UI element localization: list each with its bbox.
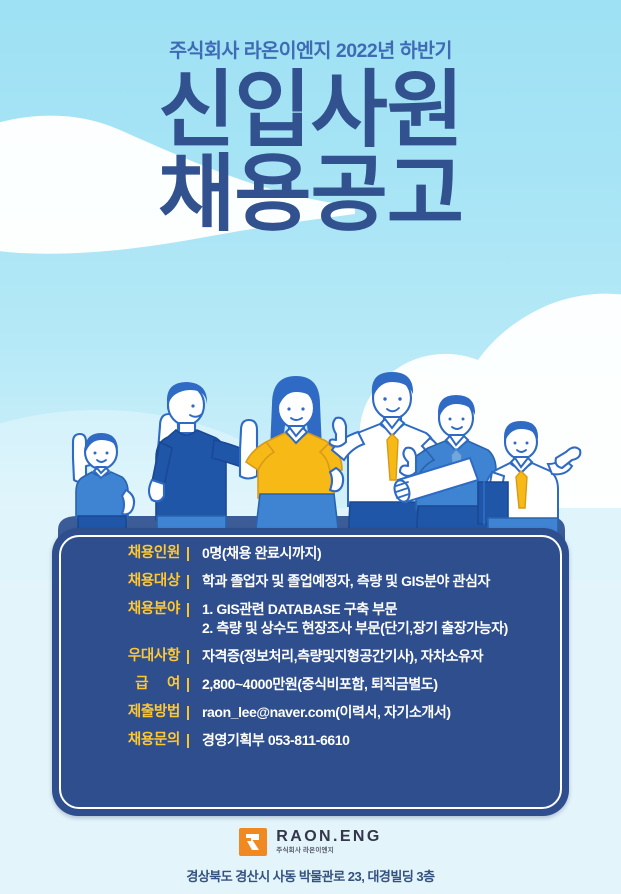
- info-value-line: 1. GIS관련 DATABASE 구축 부문: [202, 600, 551, 619]
- poster-title-line-1: 신입사원: [158, 63, 463, 157]
- info-separator: |: [182, 572, 194, 591]
- company-address: 경상북도 경산시 사동 박물관로 23, 대경빌딩 3층: [0, 866, 621, 885]
- info-row-fields: 채용분야 | 1. GIS관련 DATABASE 구축 부문 2. 측량 및 상…: [78, 600, 551, 638]
- logo-subtext: 주식회사 라온이엔지: [276, 848, 381, 855]
- info-value-line: raon_lee@naver.com(이력서, 자기소개서): [202, 703, 551, 722]
- info-label: 제출방법: [78, 703, 182, 722]
- info-row-salary: 급 여 | 2,800~4000만원(중식비포함, 퇴직금별도): [78, 675, 551, 694]
- poster-title-line-2: 채용공고: [0, 153, 621, 236]
- person-6: [478, 421, 580, 545]
- info-value-line: 자격증(정보처리,측량및지형공간기사), 자차소유자: [202, 647, 551, 666]
- info-label: 채용대상: [78, 572, 182, 591]
- info-label: 채용인원: [78, 544, 182, 563]
- info-value: 자격증(정보처리,측량및지형공간기사), 자차소유자: [194, 647, 551, 666]
- info-separator: |: [182, 600, 194, 619]
- recruitment-poster: 주식회사 라온이엔지 2022년 하반기 신입사원 채용공고 .sk { fil…: [0, 0, 621, 894]
- info-row-target: 채용대상 | 학과 졸업자 및 졸업예정자, 측량 및 GIS분야 관심자: [78, 572, 551, 591]
- info-row-preferred: 우대사항 | 자격증(정보처리,측량및지형공간기사), 자차소유자: [78, 647, 551, 666]
- info-label: 채용분야: [78, 600, 182, 619]
- info-value: 학과 졸업자 및 졸업예정자, 측량 및 GIS분야 관심자: [194, 572, 551, 591]
- headline-block: 주식회사 라온이엔지 2022년 하반기 신입사원 채용공고: [0, 40, 621, 236]
- info-separator: |: [182, 647, 194, 666]
- info-value: 0명(채용 완료시까지): [194, 544, 551, 563]
- info-value: 2,800~4000만원(중식비포함, 퇴직금별도): [194, 675, 551, 694]
- logo-text-block: RAON.ENG 주식회사 라온이엔지: [276, 829, 381, 855]
- info-value-line: 2,800~4000만원(중식비포함, 퇴직금별도): [202, 675, 551, 694]
- info-row-submission: 제출방법 | raon_lee@naver.com(이력서, 자기소개서): [78, 703, 551, 722]
- poster-title: 신입사원 채용공고: [0, 69, 621, 235]
- footer: RAON.ENG 주식회사 라온이엔지 경상북도 경산시 사동 박물관로 23,…: [0, 826, 621, 894]
- info-separator: |: [182, 544, 194, 563]
- info-label: 채용문의: [78, 731, 182, 750]
- info-value-line: 학과 졸업자 및 졸업예정자, 측량 및 GIS분야 관심자: [202, 572, 551, 591]
- info-separator: |: [182, 731, 194, 750]
- info-separator: |: [182, 703, 194, 722]
- info-panel: 채용인원 | 0명(채용 완료시까지) 채용대상 | 학과 졸업자 및 졸업예정…: [52, 528, 569, 816]
- info-rows: 채용인원 | 0명(채용 완료시까지) 채용대상 | 학과 졸업자 및 졸업예정…: [52, 544, 569, 759]
- info-row-headcount: 채용인원 | 0명(채용 완료시까지): [78, 544, 551, 563]
- info-row-inquiry: 채용문의 | 경영기획부 053-811-6610: [78, 731, 551, 750]
- info-value: 1. GIS관련 DATABASE 구축 부문 2. 측량 및 상수도 현장조사…: [194, 600, 551, 638]
- logo-name: RAON.ENG: [276, 829, 381, 845]
- poster-subtitle: 주식회사 라온이엔지 2022년 하반기: [0, 40, 621, 63]
- people-illustration: .sk { fill:#ffffff; stroke:#2f6bc4; stro…: [0, 330, 621, 545]
- info-value-line: 0명(채용 완료시까지): [202, 544, 551, 563]
- info-value: raon_lee@naver.com(이력서, 자기소개서): [194, 703, 551, 722]
- raon-r-mark-icon: [239, 828, 267, 856]
- info-value: 경영기획부 053-811-6610: [194, 731, 551, 750]
- company-logo: RAON.ENG 주식회사 라온이엔지: [0, 826, 621, 858]
- info-label: 우대사항: [78, 647, 182, 666]
- info-separator: |: [182, 675, 194, 694]
- info-value-line: 2. 측량 및 상수도 현장조사 부문(단기,장기 출장가능자): [202, 619, 551, 638]
- info-label: 급 여: [78, 675, 182, 694]
- info-value-line: 경영기획부 053-811-6610: [202, 731, 551, 750]
